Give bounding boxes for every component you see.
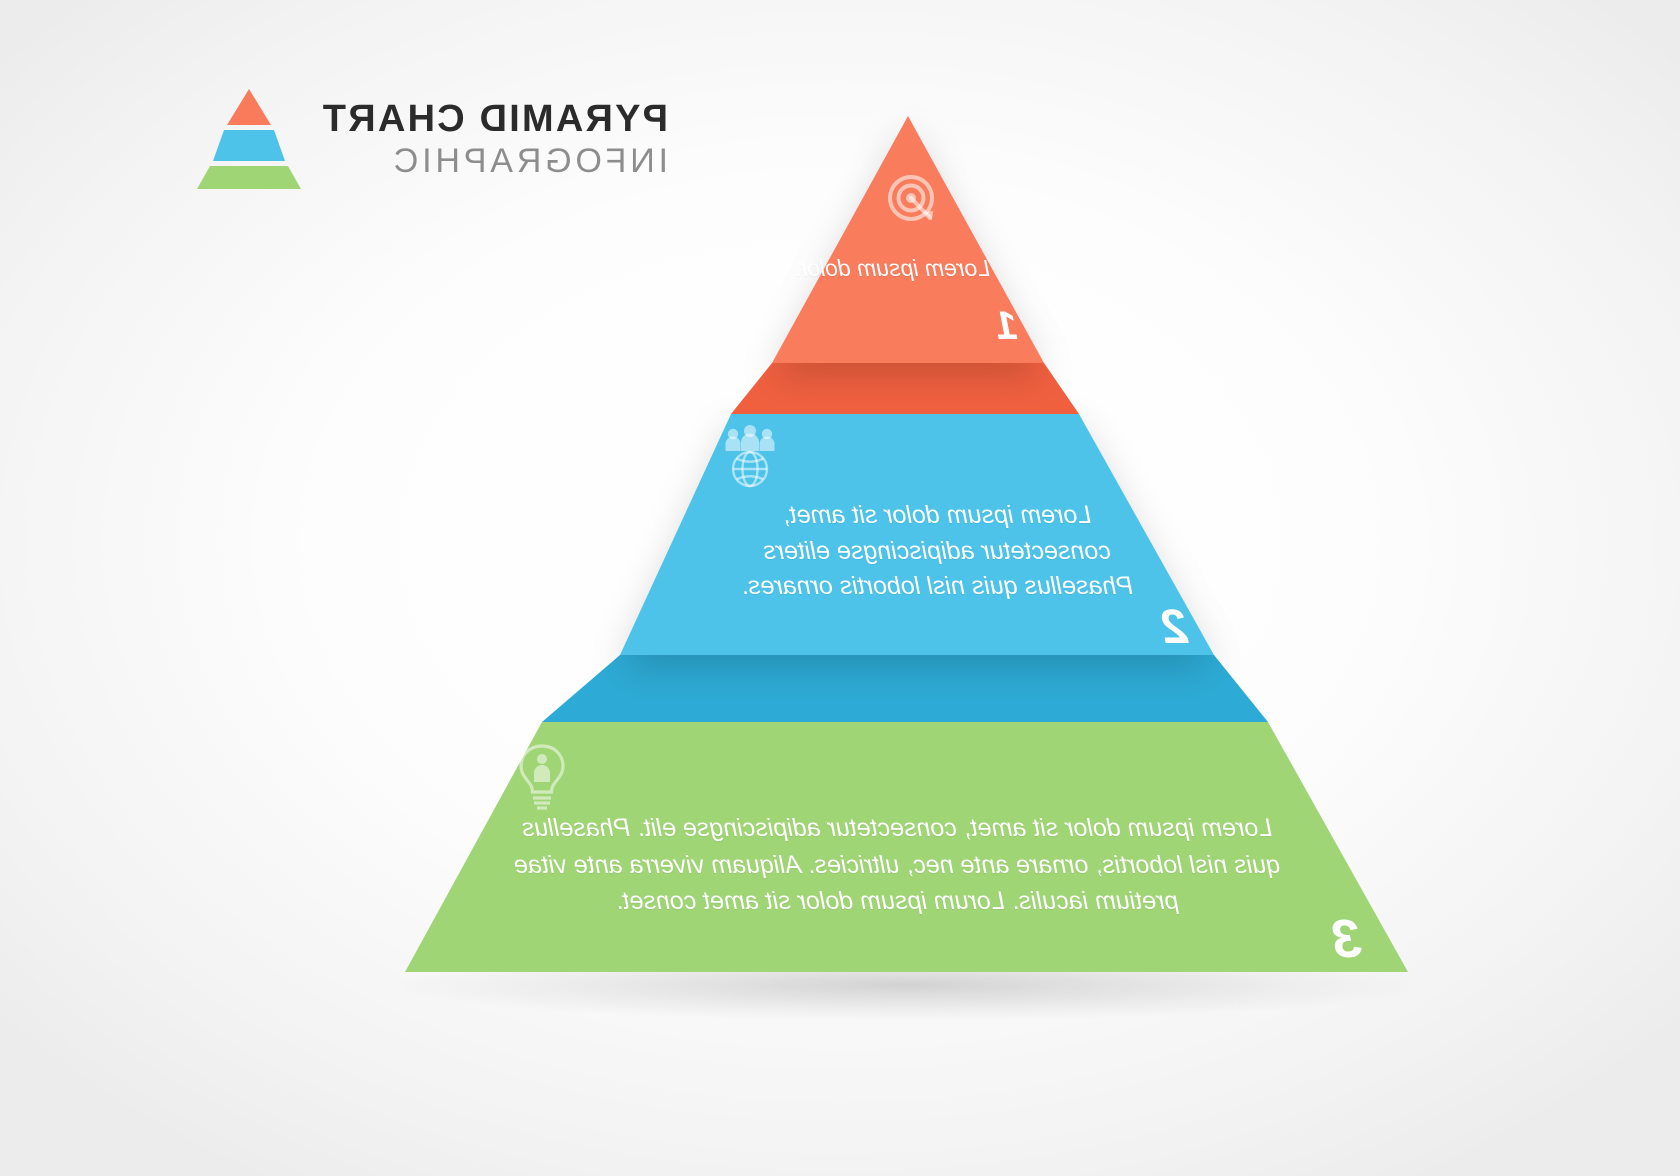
level-2-face[interactable]	[620, 414, 1214, 655]
pyramid-level-3[interactable]	[405, 722, 1408, 972]
infographic-canvas: PYRAMID CHART INFOGRAPHIC	[0, 0, 1680, 1176]
level-1-face[interactable]	[772, 116, 1044, 363]
level-1-side	[731, 363, 1079, 414]
level-3-face[interactable]	[405, 722, 1408, 972]
pyramid-level-2[interactable]	[542, 414, 1268, 722]
mirrored-artwork-group: PYRAMID CHART INFOGRAPHIC	[0, 0, 1680, 1176]
pyramid-level-1[interactable]	[731, 116, 1079, 414]
level-2-side	[542, 655, 1268, 722]
pyramid-chart	[0, 0, 1680, 1176]
